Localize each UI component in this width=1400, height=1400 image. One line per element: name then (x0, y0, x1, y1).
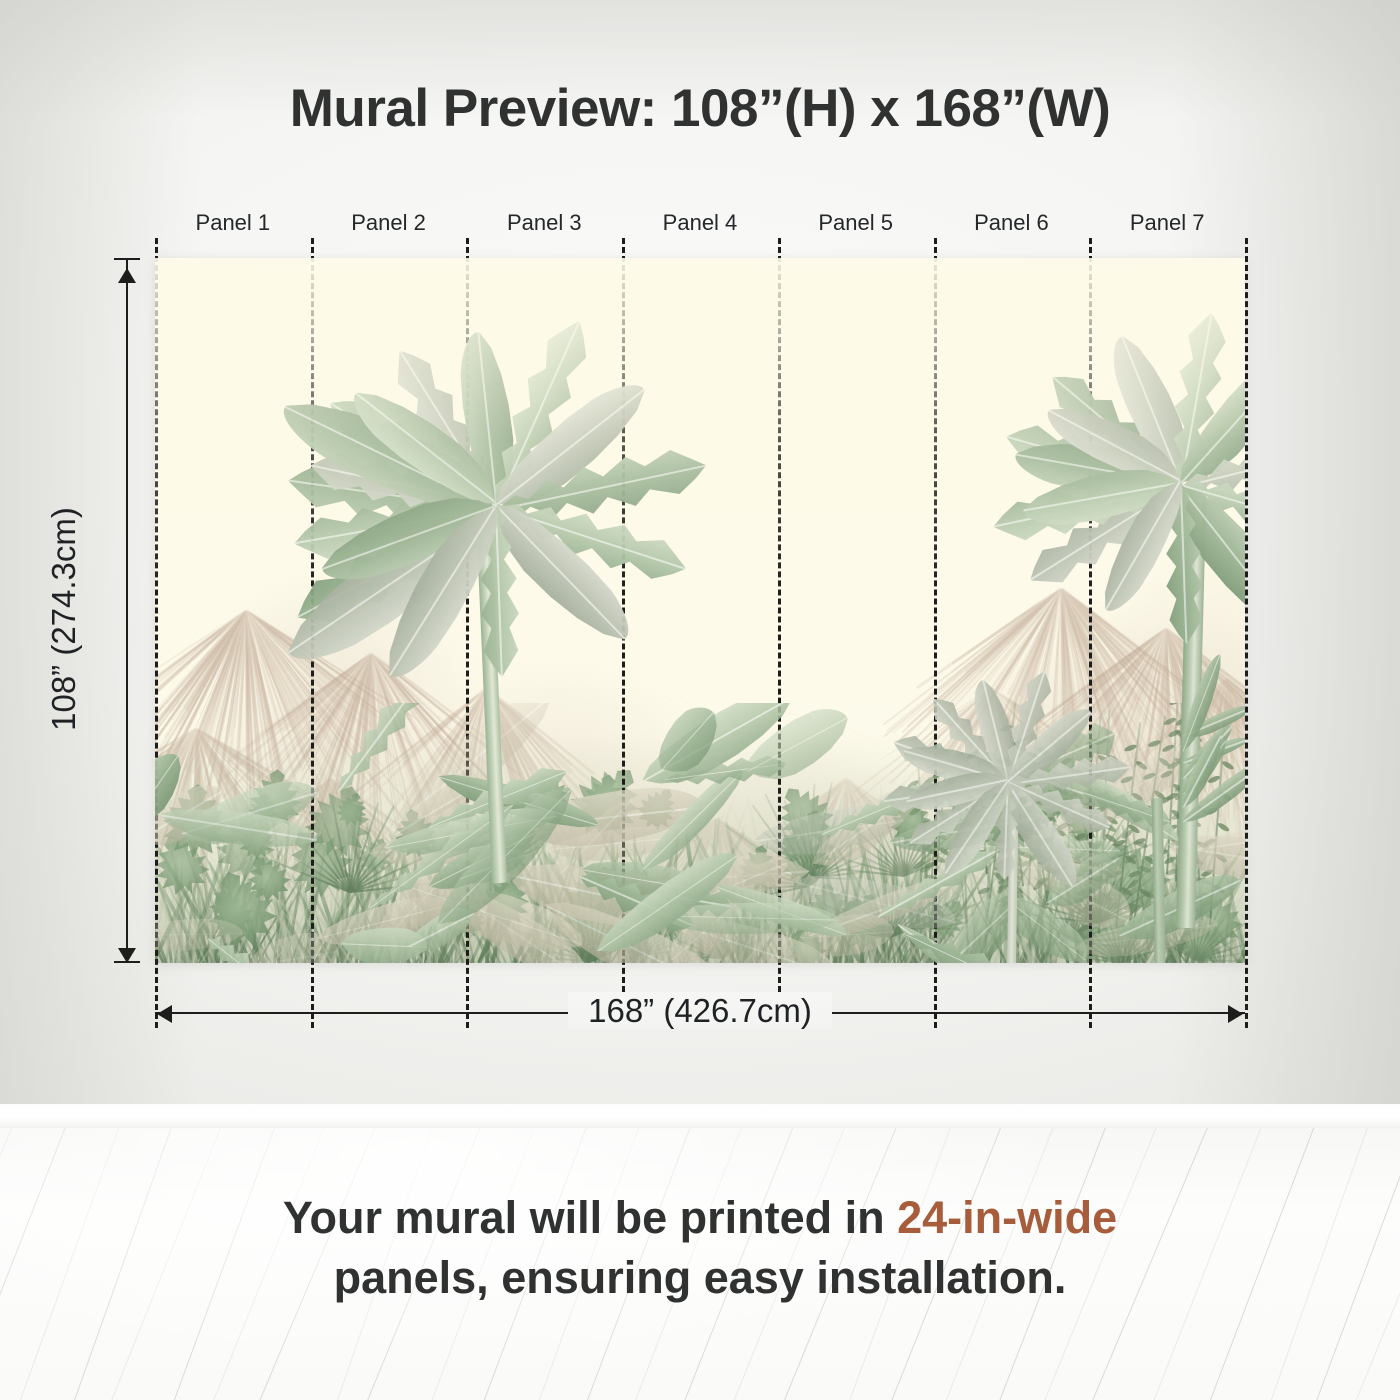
panel-label-7: Panel 7 (1089, 210, 1245, 236)
height-arrow-down (118, 948, 136, 963)
panel-divider-line (155, 238, 158, 1028)
width-label: 168” (426.7cm) (0, 992, 1400, 1030)
height-label: 108” (274.3cm) (45, 339, 83, 899)
height-tick-top (114, 258, 140, 260)
height-arrow-up (118, 268, 136, 283)
page-title: Mural Preview: 108”(H) x 168”(W) (0, 78, 1400, 139)
panel-label-6: Panel 6 (934, 210, 1090, 236)
caption-line1-prefix: Your mural will be printed in (283, 1192, 897, 1243)
mural-artwork (155, 258, 1245, 963)
panel-label-3: Panel 3 (466, 210, 622, 236)
mural-preview-screenshot: Mural Preview: 108”(H) x 168”(W) Panel 1… (0, 0, 1400, 1400)
panel-label-2: Panel 2 (311, 210, 467, 236)
panel-divider-line (1245, 238, 1248, 1028)
mural-artwork-canvas (155, 258, 1245, 963)
leaf-midrib (246, 950, 338, 963)
height-dimension-line (126, 258, 128, 963)
width-label-text: 168” (426.7cm) (568, 992, 832, 1029)
leaf-midrib (155, 933, 243, 937)
baseboard (0, 1104, 1400, 1128)
panel-label-4: Panel 4 (622, 210, 778, 236)
leaf-midrib (656, 915, 839, 921)
caption-line2: panels, ensuring easy installation. (334, 1252, 1067, 1303)
understory-foliage (155, 703, 1245, 963)
caption: Your mural will be printed in 24-in-wide… (0, 1188, 1400, 1308)
panel-label-5: Panel 5 (778, 210, 934, 236)
panel-label-1: Panel 1 (155, 210, 311, 236)
caption-accent: 24-in-wide (897, 1192, 1117, 1243)
